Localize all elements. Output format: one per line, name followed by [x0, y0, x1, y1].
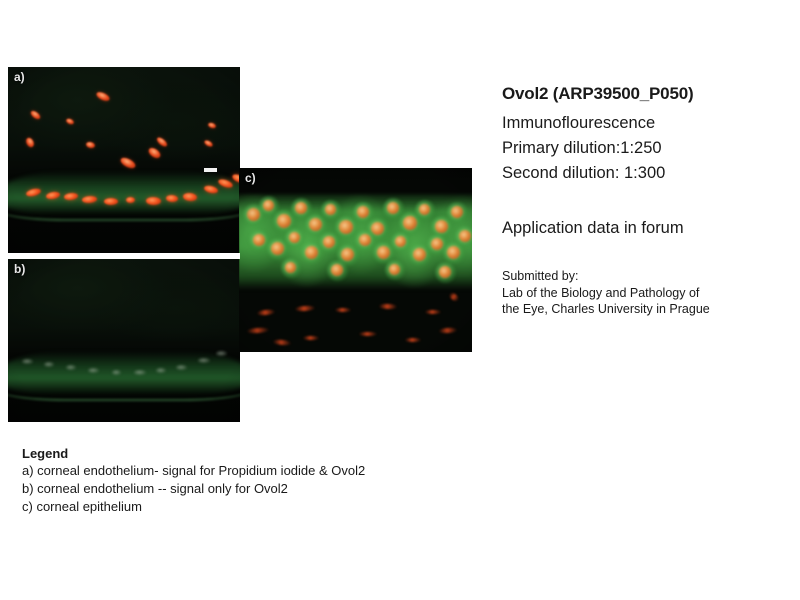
endothelial-nucleus [126, 197, 135, 203]
panel-c-label: c) [245, 171, 256, 185]
epithelial-nucleus [247, 208, 260, 221]
submitted-by-label: Submitted by: [502, 268, 798, 285]
panel-divider-gap [8, 253, 240, 259]
epithelial-nucleus [435, 220, 448, 233]
panel-a-image: a) [8, 67, 240, 253]
epithelial-nucleus [357, 206, 369, 218]
epithelial-nucleus [331, 264, 343, 276]
panel-a-band-rim [8, 189, 240, 221]
stromal-keratocyte [359, 332, 377, 336]
panel-a-label: a) [14, 70, 25, 84]
epithelial-nucleus [277, 214, 291, 228]
endothelial-nucleus [146, 197, 161, 206]
legend-title: Legend [22, 445, 492, 462]
epithelial-nucleus [403, 216, 417, 230]
epithelial-nucleus [387, 202, 399, 214]
endothelial-signal-spot [156, 368, 166, 373]
epithelial-nucleus [295, 202, 307, 214]
epithelial-nucleus [395, 236, 406, 247]
epithelial-nucleus [439, 266, 451, 278]
epithelial-nucleus [359, 234, 371, 246]
epithelial-nucleus [389, 264, 400, 275]
endothelial-signal-spot [22, 359, 33, 364]
panel-c-image: c) [239, 168, 472, 352]
stromal-keratocyte [405, 338, 421, 342]
submitter-line-2: the Eye, Charles University in Prague [502, 301, 798, 318]
epithelial-nucleus [339, 220, 353, 234]
endothelial-signal-spot [198, 358, 210, 363]
scale-bar [204, 168, 217, 172]
legend-item-a: a) corneal endothelium- signal for Propi… [22, 462, 492, 480]
endothelial-signal-spot [44, 362, 54, 367]
stromal-keratocyte [303, 336, 319, 340]
stromal-keratocyte [425, 310, 441, 314]
antibody-title: Ovol2 (ARP39500_P050) [502, 84, 798, 104]
epithelial-nucleus [271, 242, 284, 255]
endothelial-signal-spot [216, 351, 227, 356]
endothelial-signal-spot [66, 365, 76, 370]
epithelial-nucleus [325, 204, 336, 215]
info-column: Ovol2 (ARP39500_P050) Immunoflourescence… [502, 84, 798, 318]
epithelial-nucleus [419, 204, 430, 215]
endothelial-signal-spot [88, 368, 99, 373]
epithelial-nucleus [323, 236, 335, 248]
legend-item-b: b) corneal endothelium -- signal only fo… [22, 480, 492, 498]
submitted-by-block: Submitted by: Lab of the Biology and Pat… [502, 268, 798, 318]
epithelial-nucleus [289, 232, 300, 243]
epithelial-nucleus [377, 246, 390, 259]
legend-item-c: c) corneal epithelium [22, 498, 492, 516]
epithelial-nucleus [253, 234, 265, 246]
epithelial-nucleus [459, 230, 471, 242]
endothelial-nucleus [104, 198, 118, 205]
figure-area: a) b) c) Ovol2 (ARP39500_P050) Immunoflo… [0, 0, 800, 600]
epithelial-nucleus [305, 246, 318, 259]
primary-dilution-line: Primary dilution:1:250 [502, 136, 798, 161]
epithelial-nucleus [263, 200, 274, 211]
panel-b-image: b) [8, 259, 240, 422]
epithelial-nucleus [451, 206, 463, 218]
forum-note: Application data in forum [502, 219, 798, 238]
epithelial-nucleus [285, 262, 296, 273]
endothelial-signal-spot [176, 365, 187, 370]
panel-b-band-rim [8, 369, 240, 401]
epithelial-nucleus [309, 218, 322, 231]
epithelial-nucleus [447, 246, 460, 259]
submitter-line-1: Lab of the Biology and Pathology of [502, 285, 798, 302]
epithelial-nucleus [413, 248, 426, 261]
panel-b-label: b) [14, 262, 25, 276]
epithelial-nucleus [341, 248, 354, 261]
epithelial-nucleus [431, 238, 443, 250]
method-line: Immunoflourescence [502, 111, 798, 136]
endothelial-signal-spot [112, 370, 121, 375]
endothelial-signal-spot [134, 370, 146, 375]
stromal-keratocyte [335, 308, 351, 312]
second-dilution-line: Second dilution: 1:300 [502, 161, 798, 186]
legend-block: Legend a) corneal endothelium- signal fo… [22, 445, 492, 516]
